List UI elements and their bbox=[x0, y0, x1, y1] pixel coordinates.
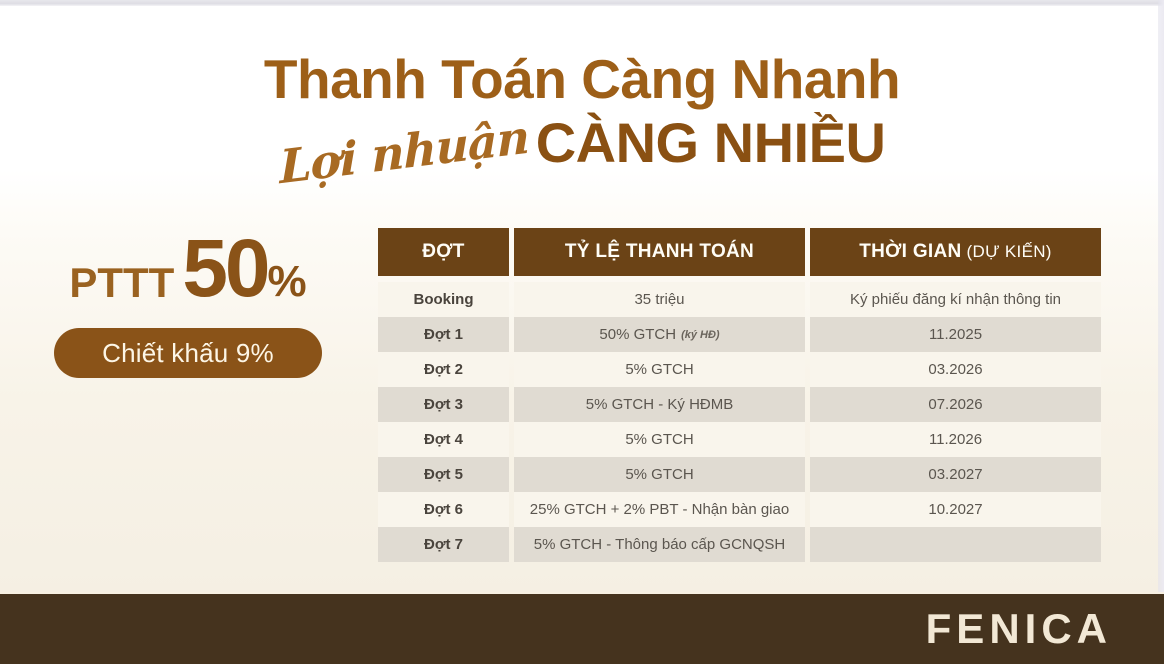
cell-rate: 35 triệu bbox=[514, 282, 805, 317]
cell-rate: 50% GTCH(ký HĐ) bbox=[514, 317, 805, 352]
headline-line-1: Thanh Toán Càng Nhanh bbox=[0, 52, 1164, 107]
table-row: Đợt 45% GTCH11.2026 bbox=[378, 422, 1096, 457]
cell-rate: 5% GTCH bbox=[514, 422, 805, 457]
cell-rate: 5% GTCH bbox=[514, 352, 805, 387]
table-body: Booking35 triệuKý phiếu đăng kí nhận thô… bbox=[378, 282, 1096, 562]
cell-rate-text: 50% GTCH bbox=[599, 326, 676, 343]
table-header-row: ĐỢT TỶ LỆ THANH TOÁN THỜI GIAN (DỰ KIẾN) bbox=[378, 228, 1096, 276]
cell-rate-text: 25% GTCH + 2% PBT - Nhận bàn giao bbox=[530, 501, 789, 518]
promo-label: PTTT bbox=[69, 262, 174, 310]
cell-stage: Đợt 6 bbox=[378, 492, 509, 527]
brand-logo-text: FENICA bbox=[926, 608, 1112, 650]
column-header-stage: ĐỢT bbox=[378, 228, 509, 276]
cell-rate: 5% GTCH bbox=[514, 457, 805, 492]
headline-bold-word: CÀNG NHIỀU bbox=[536, 115, 886, 171]
cell-time: 03.2026 bbox=[810, 352, 1101, 387]
cell-time: 11.2026 bbox=[810, 422, 1101, 457]
cell-rate-text: 35 triệu bbox=[634, 291, 684, 308]
column-header-time-sub: (DỰ KIẾN) bbox=[967, 242, 1052, 262]
brand-logo: FENICA bbox=[926, 608, 1112, 650]
table-row: Đợt 55% GTCH03.2027 bbox=[378, 457, 1096, 492]
top-chrome-strip bbox=[0, 0, 1164, 6]
promo-percent-sign: % bbox=[268, 260, 307, 310]
cell-stage: Đợt 2 bbox=[378, 352, 509, 387]
discount-badge: Chiết khấu 9% bbox=[54, 328, 322, 378]
promo-number: 50 bbox=[182, 228, 267, 310]
cell-stage: Đợt 5 bbox=[378, 457, 509, 492]
headline-line-2: Lợi nhuận CÀNG NHIỀU bbox=[0, 115, 1164, 171]
footer-bar: FENICA bbox=[0, 592, 1164, 664]
cell-stage: Booking bbox=[378, 282, 509, 317]
payment-schedule-table: ĐỢT TỶ LỆ THANH TOÁN THỜI GIAN (DỰ KIẾN)… bbox=[378, 228, 1096, 562]
promo-block: PTTT 50 % Chiết khấu 9% bbox=[18, 228, 358, 378]
table-row: Đợt 35% GTCH - Ký HĐMB07.2026 bbox=[378, 387, 1096, 422]
table-row: Booking35 triệuKý phiếu đăng kí nhận thô… bbox=[378, 282, 1096, 317]
cell-rate: 5% GTCH - Thông báo cấp GCNQSH bbox=[514, 527, 805, 562]
cell-rate-text: 5% GTCH bbox=[625, 361, 693, 378]
right-edge-strip bbox=[1158, 0, 1164, 664]
table-row: Đợt 625% GTCH + 2% PBT - Nhận bàn giao10… bbox=[378, 492, 1096, 527]
cell-time bbox=[810, 527, 1101, 562]
column-header-rate: TỶ LỆ THANH TOÁN bbox=[514, 228, 805, 276]
promo-headline: PTTT 50 % bbox=[18, 228, 358, 310]
cell-stage: Đợt 3 bbox=[378, 387, 509, 422]
cell-rate-text: 5% GTCH - Ký HĐMB bbox=[586, 396, 734, 413]
cell-rate-text: 5% GTCH bbox=[625, 431, 693, 448]
cell-time: Ký phiếu đăng kí nhận thông tin bbox=[810, 282, 1101, 317]
cell-time: 10.2027 bbox=[810, 492, 1101, 527]
headline-script-word: Lợi nhuận bbox=[279, 113, 529, 190]
cell-rate: 25% GTCH + 2% PBT - Nhận bàn giao bbox=[514, 492, 805, 527]
table-row: Đợt 75% GTCH - Thông báo cấp GCNQSH bbox=[378, 527, 1096, 562]
slide-canvas: Thanh Toán Càng Nhanh Lợi nhuận CÀNG NHI… bbox=[0, 0, 1164, 664]
cell-time: 03.2027 bbox=[810, 457, 1101, 492]
column-header-time: THỜI GIAN (DỰ KIẾN) bbox=[810, 228, 1101, 276]
cell-time: 07.2026 bbox=[810, 387, 1101, 422]
headline-block: Thanh Toán Càng Nhanh Lợi nhuận CÀNG NHI… bbox=[0, 52, 1164, 171]
cell-stage: Đợt 1 bbox=[378, 317, 509, 352]
cell-time: 11.2025 bbox=[810, 317, 1101, 352]
cell-rate-text: 5% GTCH bbox=[625, 466, 693, 483]
cell-stage: Đợt 7 bbox=[378, 527, 509, 562]
column-header-time-main: THỜI GIAN bbox=[859, 241, 961, 263]
cell-rate-text: 5% GTCH - Thông báo cấp GCNQSH bbox=[534, 536, 785, 553]
table-row: Đợt 25% GTCH03.2026 bbox=[378, 352, 1096, 387]
table-row: Đợt 150% GTCH(ký HĐ)11.2025 bbox=[378, 317, 1096, 352]
cell-stage: Đợt 4 bbox=[378, 422, 509, 457]
cell-rate-note: (ký HĐ) bbox=[681, 329, 720, 341]
cell-rate: 5% GTCH - Ký HĐMB bbox=[514, 387, 805, 422]
